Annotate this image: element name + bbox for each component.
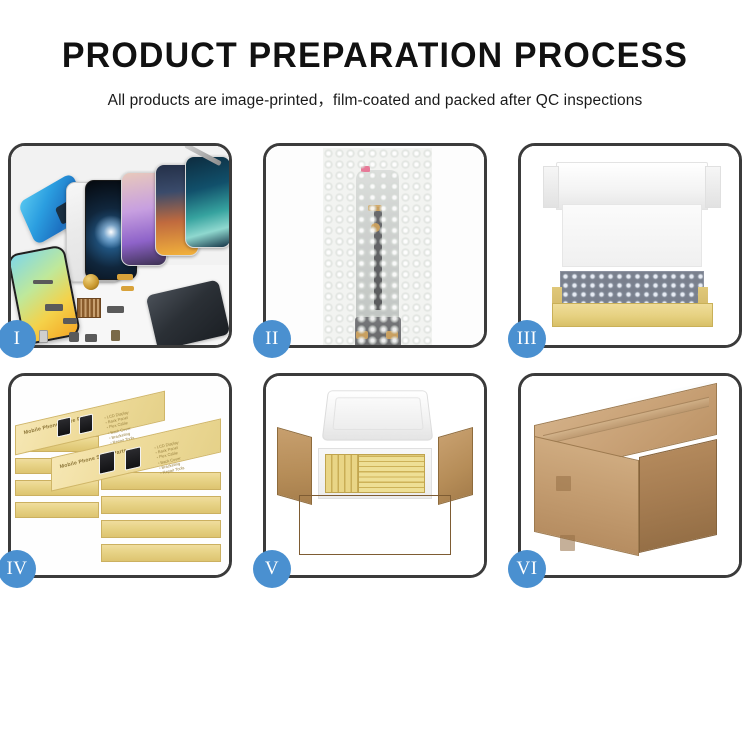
box-stack: Mobile Phone Spare Parts ▫ LCD Display▫ … — [11, 376, 229, 575]
step-image-4: Mobile Phone Spare Parts ▫ LCD Display▫ … — [11, 376, 229, 575]
step-panel-3: III — [518, 143, 742, 348]
bubble-wrap-sheet — [323, 148, 432, 345]
carton-hand-hole-icon — [556, 476, 571, 492]
product-preparation-infographic: PRODUCT PREPARATION PROCESS All products… — [0, 0, 750, 750]
step-badge-5: V — [253, 550, 291, 588]
foam-lid-icon — [322, 390, 433, 440]
header: PRODUCT PREPARATION PROCESS All products… — [0, 0, 750, 110]
step-image-2 — [266, 146, 484, 345]
step-image-3 — [521, 146, 739, 345]
small-part-icon — [45, 304, 63, 311]
small-part-icon — [107, 306, 124, 313]
step-panel-4: Mobile Phone Spare Parts ▫ LCD Display▫ … — [8, 373, 232, 578]
step-panel-2: II — [263, 143, 487, 348]
step-badge-4: IV — [0, 550, 36, 588]
carton-side-face-icon — [639, 439, 717, 553]
carton-flap-left-icon — [277, 427, 312, 505]
bubble-wrapped-contents-icon — [560, 271, 704, 307]
connector-part-icon — [39, 330, 48, 343]
camera-module-icon — [69, 332, 79, 342]
stacked-box — [101, 496, 221, 514]
stacked-box — [15, 502, 99, 518]
step-badge-1: I — [0, 320, 36, 358]
vibration-coil-icon — [83, 274, 99, 290]
box-phone-image — [57, 416, 71, 437]
speaker-mesh-icon — [33, 280, 53, 284]
step-image-1 — [11, 146, 229, 345]
yellow-inner-box-icon — [552, 303, 713, 327]
flex-cable-icon — [117, 274, 133, 280]
stacked-box — [101, 544, 221, 562]
foam-sheet-icon — [562, 204, 702, 268]
flex-cable-icon — [121, 286, 134, 291]
small-part-icon — [63, 318, 77, 324]
ic-chip-grid-icon — [77, 298, 101, 318]
steps-grid: I II — [8, 143, 742, 578]
step-badge-3: III — [508, 320, 546, 358]
stacked-box — [101, 520, 221, 538]
battery-part-icon — [111, 330, 120, 341]
carton-flap-right-icon — [438, 427, 473, 505]
page-subtitle: All products are image-printed，film-coat… — [0, 88, 750, 110]
small-part-icon — [85, 334, 97, 342]
box-phone-image — [125, 446, 141, 471]
step-panel-6: VI — [518, 373, 742, 578]
step-panel-1: I — [8, 143, 232, 348]
step-badge-2: II — [253, 320, 291, 358]
phone-screen-teal-icon — [185, 156, 229, 248]
box-phone-image — [99, 450, 115, 475]
step-image-5 — [266, 376, 484, 575]
step-panel-5: V — [263, 373, 487, 578]
step-badge-6: VI — [508, 550, 546, 588]
carton-body-icon — [299, 495, 452, 555]
carton-hand-hole-icon — [560, 535, 575, 551]
page-title: PRODUCT PREPARATION PROCESS — [11, 36, 739, 76]
inner-box-lid-icon — [556, 162, 709, 210]
step-image-6 — [521, 376, 739, 575]
bubble-texture — [323, 148, 432, 345]
packed-yellow-boxes-icon — [358, 454, 426, 494]
box-phone-image — [79, 413, 93, 434]
